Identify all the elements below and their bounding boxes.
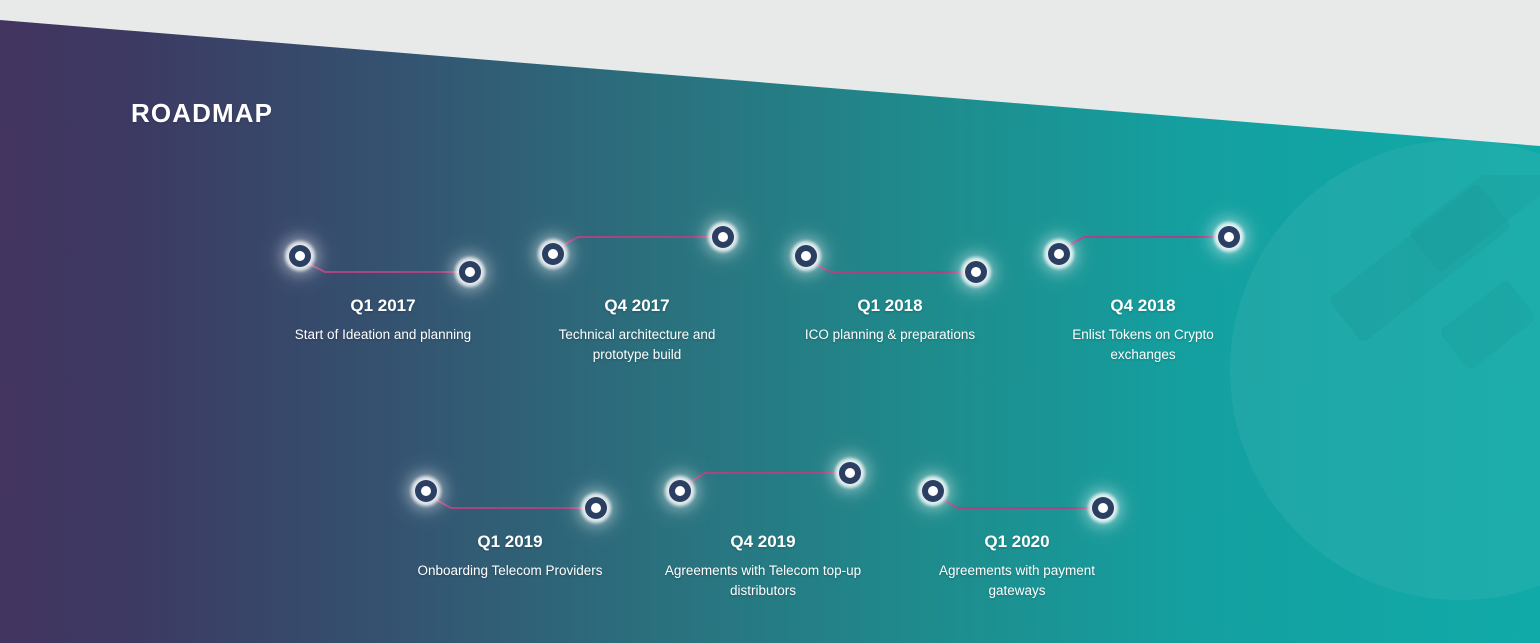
milestone-description: ICO planning & preparations: [790, 325, 990, 345]
milestone-description: Agreements with Telecom top-up distribut…: [663, 561, 863, 601]
logo-shape-bar-b: [1408, 175, 1540, 274]
milestone-description: Onboarding Telecom Providers: [410, 561, 610, 581]
milestone-node-left[interactable]: [415, 480, 437, 502]
page-title: ROADMAP: [131, 98, 273, 129]
milestone-node-right[interactable]: [839, 462, 861, 484]
milestone-label: Q4 2019Agreements with Telecom top-up di…: [663, 531, 863, 601]
milestone-description: Technical architecture and prototype bui…: [537, 325, 737, 365]
milestone-title: Q4 2018: [1043, 295, 1243, 317]
milestone-description: Agreements with payment gateways: [917, 561, 1117, 601]
milestone-description: Start of Ideation and planning: [283, 325, 483, 345]
milestone-title: Q1 2018: [790, 295, 990, 317]
milestone-node-left[interactable]: [795, 245, 817, 267]
milestone-node-left[interactable]: [289, 245, 311, 267]
milestone-node-right[interactable]: [585, 497, 607, 519]
milestone-label: Q1 2017Start of Ideation and planning: [283, 295, 483, 345]
milestone-node-left[interactable]: [1048, 243, 1070, 265]
milestone-title: Q4 2017: [537, 295, 737, 317]
milestone-label: Q1 2019Onboarding Telecom Providers: [410, 531, 610, 581]
logo-shape-bar-c: [1439, 279, 1538, 371]
milestone-node-right[interactable]: [965, 261, 987, 283]
milestone-description: Enlist Tokens on Crypto exchanges: [1043, 325, 1243, 365]
milestone-node-right[interactable]: [459, 261, 481, 283]
milestone-node-right[interactable]: [1092, 497, 1114, 519]
milestone-title: Q4 2019: [663, 531, 863, 553]
milestone-label: Q4 2018Enlist Tokens on Crypto exchanges: [1043, 295, 1243, 365]
milestone-title: Q1 2019: [410, 531, 610, 553]
decorative-logo-watermark: [1330, 175, 1540, 405]
milestone-node-right[interactable]: [712, 226, 734, 248]
milestone-node-right[interactable]: [1218, 226, 1240, 248]
milestone-title: Q1 2020: [917, 531, 1117, 553]
milestone-node-left[interactable]: [922, 480, 944, 502]
milestone-node-left[interactable]: [542, 243, 564, 265]
milestone-node-left[interactable]: [669, 480, 691, 502]
milestone-label: Q1 2020Agreements with payment gateways: [917, 531, 1117, 601]
roadmap-banner: ROADMAP Q1 2017Start of Ideation and pla…: [0, 0, 1540, 643]
milestone-label: Q4 2017Technical architecture and protot…: [537, 295, 737, 365]
milestone-title: Q1 2017: [283, 295, 483, 317]
milestone-label: Q1 2018ICO planning & preparations: [790, 295, 990, 345]
